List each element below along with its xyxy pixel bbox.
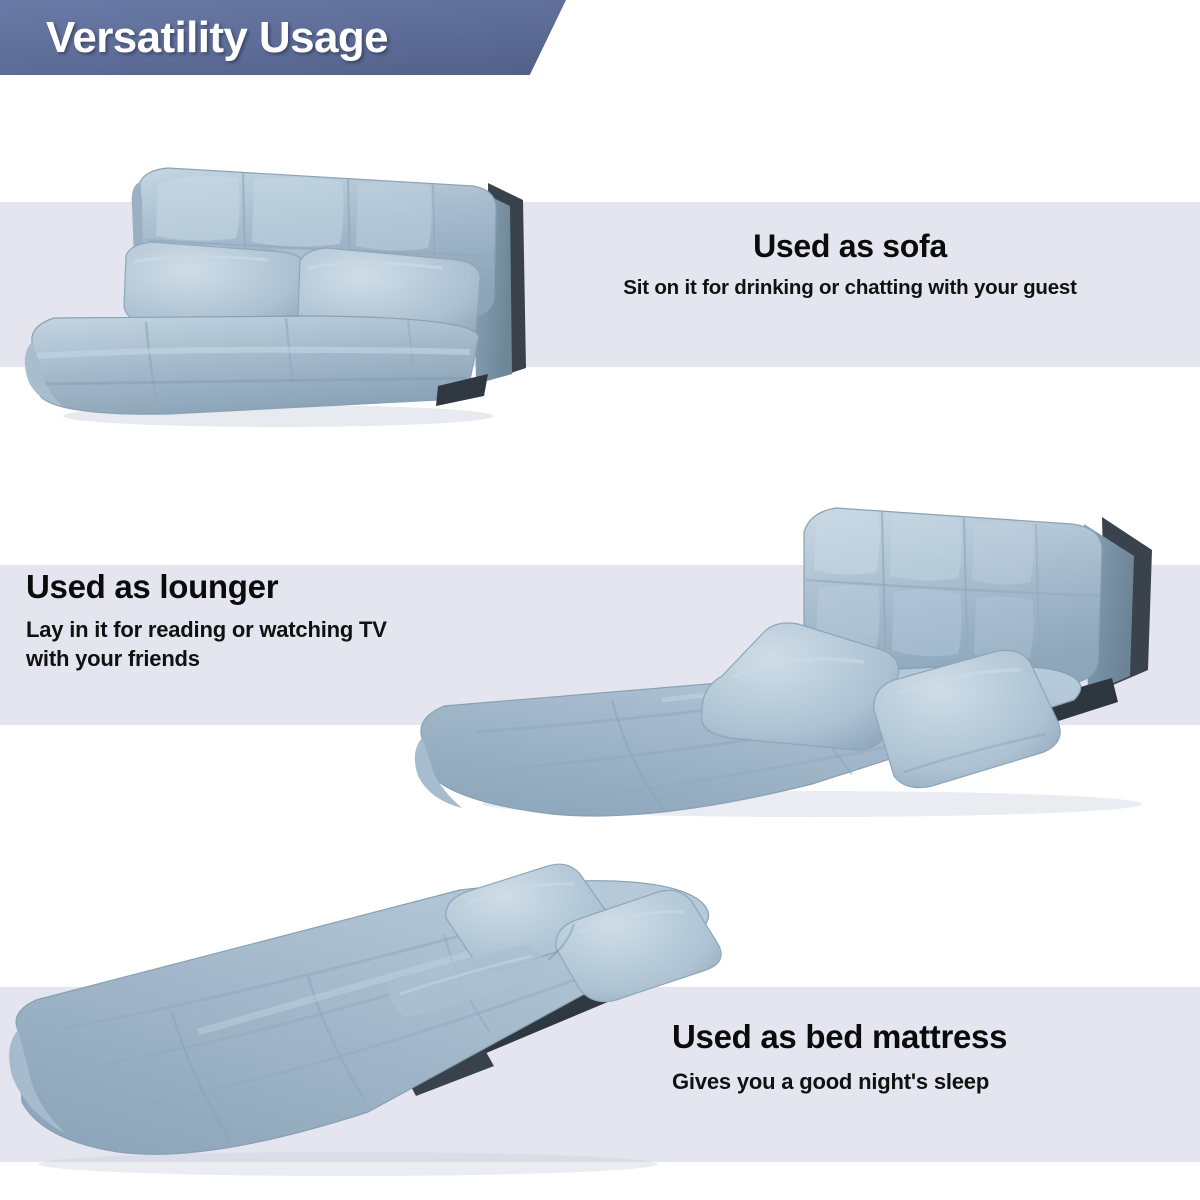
lounger-text-block: Used as lounger Lay in it for reading or… <box>26 568 546 673</box>
sofa-heading: Used as sofa <box>545 228 1155 265</box>
lounger-heading: Used as lounger <box>26 568 546 606</box>
header-banner: Versatility Usage <box>0 0 566 75</box>
bed-heading: Used as bed mattress <box>672 1018 1152 1056</box>
bed-text-block: Used as bed mattress Gives you a good ni… <box>672 1018 1152 1097</box>
sofa-illustration <box>18 128 563 428</box>
sofa-text-block: Used as sofa Sit on it for drinking or c… <box>545 228 1155 301</box>
infographic-page: Versatility Usage <box>0 0 1200 1200</box>
lounger-subtext-line-2: with your friends <box>26 645 546 674</box>
bed-mattress-illustration <box>8 852 728 1182</box>
page-title: Versatility Usage <box>46 13 388 63</box>
sofa-subtext: Sit on it for drinking or chatting with … <box>545 275 1155 302</box>
bed-subtext: Gives you a good night's sleep <box>672 1068 1152 1097</box>
lounger-subtext-line-1: Lay in it for reading or watching TV <box>26 616 546 645</box>
